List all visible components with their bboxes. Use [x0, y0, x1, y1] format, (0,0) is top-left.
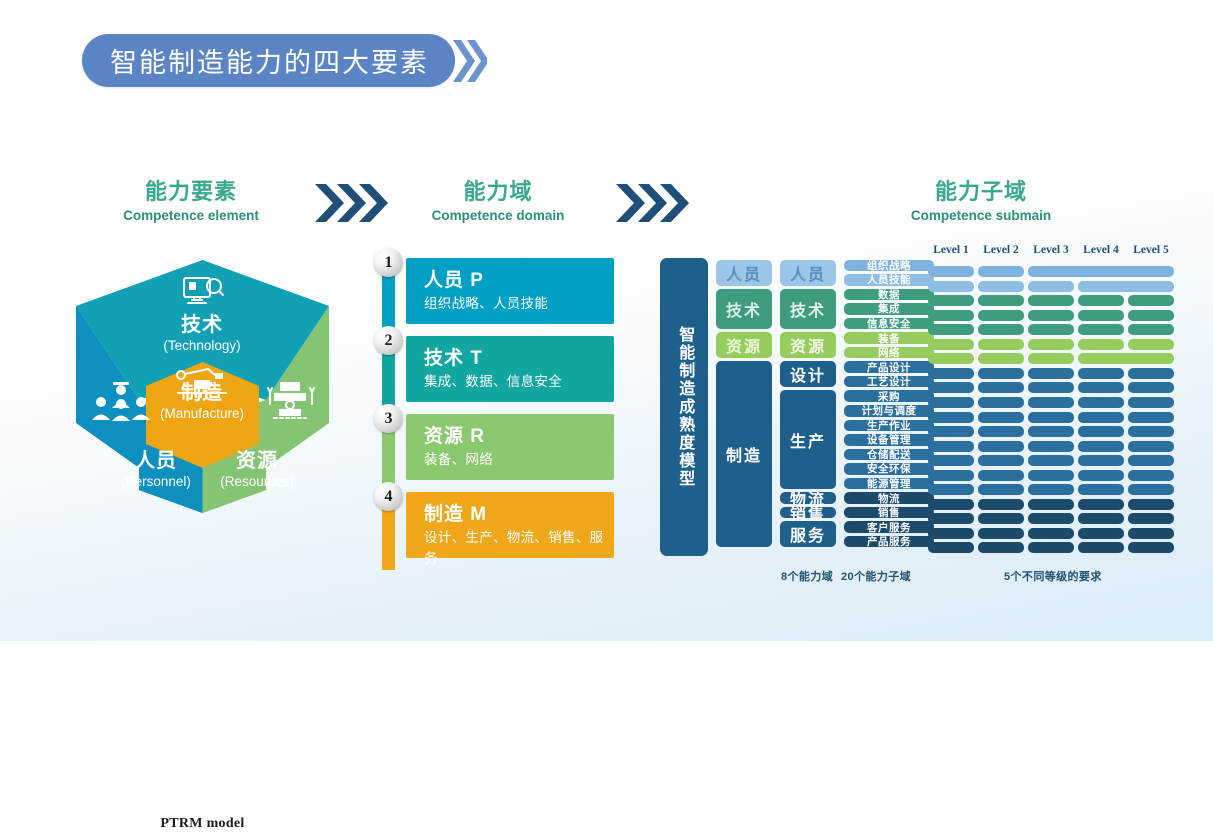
level-requirement-bar[interactable] — [978, 353, 1024, 364]
level-requirement-bar[interactable] — [1078, 441, 1124, 452]
footnote-domains-count: 8个能力域 — [781, 568, 833, 584]
competence-bar-subtitle: 组织战略、人员技能 — [424, 293, 614, 314]
level-requirement-bar[interactable] — [1128, 426, 1174, 437]
level-requirement-bar[interactable] — [978, 368, 1024, 379]
matrix-submain-cell[interactable]: 组织战略 — [844, 260, 934, 272]
competence-bar-title: 资源 R — [424, 425, 614, 449]
bar-number-badge: 1 — [374, 248, 403, 277]
bar-number-badge: 4 — [374, 482, 403, 511]
machine-icon — [266, 380, 318, 427]
level-requirement-bar[interactable] — [1128, 528, 1174, 539]
level-header: Level 1 — [928, 244, 974, 256]
level-requirement-bar[interactable] — [978, 484, 1024, 495]
matrix-element-cell[interactable]: 技术 — [716, 289, 772, 330]
level-header: Level 5 — [1128, 244, 1174, 256]
matrix-submain-cell[interactable]: 采购 — [844, 390, 934, 402]
level-requirement-bar[interactable] — [978, 412, 1024, 423]
level-requirement-bar[interactable] — [978, 499, 1024, 510]
level-requirement-bar[interactable] — [928, 484, 974, 495]
level-requirement-bar[interactable] — [1128, 397, 1174, 408]
level-requirement-bar[interactable] — [928, 542, 974, 553]
column-header-element-en: Competence element — [96, 206, 286, 225]
matrix-domain-cell[interactable]: 生产 — [780, 390, 836, 489]
matrix-element-cell[interactable]: 制造 — [716, 361, 772, 547]
level-requirement-bar[interactable] — [1028, 470, 1074, 481]
robot-arm-icon — [174, 366, 230, 407]
level-requirement-bar[interactable] — [928, 455, 974, 466]
competence-bar-subtitle: 设计、生产、物流、销售、服务 — [424, 527, 614, 569]
competence-bar-subtitle: 集成、数据、信息安全 — [424, 371, 614, 392]
page-title: 智能制造能力的四大要素 — [110, 41, 429, 80]
competence-bar-title: 技术 T — [424, 347, 614, 371]
level-requirement-bar[interactable] — [928, 528, 974, 539]
level-requirement-bar[interactable] — [978, 542, 1024, 553]
matrix-domain-cell[interactable]: 资源 — [780, 332, 836, 358]
level-requirement-bar[interactable] — [1078, 368, 1124, 379]
matrix-domain-cell[interactable]: 销售 — [780, 507, 836, 519]
level-requirement-bar[interactable] — [1128, 542, 1174, 553]
page-title-banner: 智能制造能力的四大要素 — [82, 34, 487, 87]
matrix-domain-cell[interactable]: 设计 — [780, 361, 836, 387]
level-requirement-bar[interactable] — [1128, 441, 1174, 452]
matrix-submain-cell[interactable]: 工艺设计 — [844, 376, 934, 388]
matrix-submain-cell[interactable]: 能源管理 — [844, 478, 934, 490]
monitor-search-icon — [182, 276, 224, 315]
column-header-domain-en: Competence domain — [405, 206, 591, 225]
level-requirement-bar[interactable] — [978, 382, 1024, 393]
matrix-submain-cell[interactable]: 销售 — [844, 507, 934, 519]
level-requirement-bar[interactable] — [1078, 455, 1124, 466]
level-requirement-bar[interactable] — [1028, 412, 1074, 423]
matrix-submain-cell[interactable]: 数据 — [844, 289, 934, 301]
footnote-levels-count: 5个不同等级的要求 — [1004, 568, 1102, 584]
matrix-submain-cell[interactable]: 仓储配送 — [844, 449, 934, 461]
level-requirement-bar[interactable] — [1028, 499, 1074, 510]
level-requirement-bar[interactable] — [928, 266, 974, 277]
people-icon — [92, 380, 150, 427]
column-header-submain-cn: 能力子域 — [806, 178, 1156, 206]
level-requirement-bar[interactable] — [928, 397, 974, 408]
level-requirement-bar[interactable] — [928, 441, 974, 452]
level-requirement-bar[interactable] — [1078, 513, 1124, 524]
level-requirement-bar[interactable] — [1078, 412, 1124, 423]
matrix-submain-cell[interactable]: 计划与调度 — [844, 405, 934, 417]
competence-bar[interactable]: 资源 R装备、网络 — [406, 414, 614, 480]
level-requirement-bar[interactable] — [1028, 266, 1174, 277]
column-header-submain: 能力子域 Competence submain — [806, 178, 1156, 225]
column-header-domain-cn: 能力域 — [405, 178, 591, 206]
footnote-submains-count: 20个能力子域 — [841, 568, 911, 584]
level-requirement-bar[interactable] — [978, 324, 1024, 335]
hexagon-shape: 技术 (Technology) 制造 (Manufacture) 人员 (Per… — [70, 258, 335, 518]
level-requirement-bar[interactable] — [1078, 484, 1124, 495]
level-requirement-bar[interactable] — [1078, 542, 1124, 553]
level-requirement-bar[interactable] — [928, 353, 974, 364]
level-requirement-bar[interactable] — [1078, 295, 1124, 306]
column-header-element-cn: 能力要素 — [96, 178, 286, 206]
level-requirement-bar[interactable] — [928, 324, 974, 335]
level-requirement-bar[interactable] — [928, 513, 974, 524]
level-requirement-bar[interactable] — [1028, 339, 1074, 350]
level-requirement-bar[interactable] — [928, 368, 974, 379]
level-requirement-bar[interactable] — [928, 281, 974, 292]
level-requirement-bar[interactable] — [1028, 310, 1074, 321]
level-requirement-bar[interactable] — [978, 266, 1024, 277]
competence-bar[interactable]: 人员 P组织战略、人员技能 — [406, 258, 614, 324]
level-requirement-bar[interactable] — [1078, 470, 1124, 481]
level-requirement-bar[interactable] — [1128, 499, 1174, 510]
level-requirement-bar[interactable] — [1028, 295, 1074, 306]
level-requirement-bar[interactable] — [928, 339, 974, 350]
competence-bar[interactable]: 制造 M设计、生产、物流、销售、服务 — [406, 492, 614, 558]
level-requirement-bar[interactable] — [978, 310, 1024, 321]
matrix-submain-cell[interactable]: 客户服务 — [844, 521, 934, 533]
level-requirement-bar[interactable] — [978, 426, 1024, 437]
matrix-submain-cell[interactable]: 人员技能 — [844, 274, 934, 286]
ptrm-hexagon-diagram: 技术 (Technology) 制造 (Manufacture) 人员 (Per… — [70, 258, 335, 558]
competence-domain-bars: 人员 P组织战略、人员技能1技术 T集成、数据、信息安全2资源 R装备、网络3制… — [374, 258, 614, 556]
matrix-submain-cell[interactable]: 安全环保 — [844, 463, 934, 475]
level-requirement-bar[interactable] — [1028, 441, 1074, 452]
level-requirement-bar[interactable] — [1078, 353, 1174, 364]
matrix-submain-cell[interactable]: 设备管理 — [844, 434, 934, 446]
level-requirement-bar[interactable] — [1128, 455, 1174, 466]
level-requirement-bar[interactable] — [1128, 513, 1174, 524]
level-requirement-bar[interactable] — [1128, 382, 1174, 393]
level-requirement-bar[interactable] — [978, 339, 1024, 350]
level-requirement-bar[interactable] — [1128, 484, 1174, 495]
level-requirement-bar[interactable] — [928, 382, 974, 393]
level-requirement-bar[interactable] — [978, 513, 1024, 524]
banner-chevron-icon — [451, 36, 487, 86]
column-header-domain: 能力域 Competence domain — [405, 178, 591, 225]
matrix-submain-cell[interactable]: 产品设计 — [844, 361, 934, 373]
matrix-submain-cell[interactable]: 装备 — [844, 332, 934, 344]
level-requirement-bar[interactable] — [1078, 397, 1124, 408]
level-requirement-bar[interactable] — [978, 455, 1024, 466]
matrix-submain-cell[interactable]: 集成 — [844, 303, 934, 315]
level-requirement-bar[interactable] — [1028, 542, 1074, 553]
level-header: Level 3 — [1028, 244, 1074, 256]
competence-bar-title: 人员 P — [424, 269, 614, 293]
level-requirement-bar[interactable] — [1128, 324, 1174, 335]
level-requirement-bar[interactable] — [1078, 528, 1124, 539]
matrix-domain-cell[interactable]: 技术 — [780, 289, 836, 330]
level-requirement-bar[interactable] — [1028, 368, 1074, 379]
level-requirement-bar[interactable] — [978, 397, 1024, 408]
matrix-submain-cell[interactable]: 信息安全 — [844, 318, 934, 330]
level-requirement-bar[interactable] — [1028, 513, 1074, 524]
level-requirement-bar[interactable] — [1028, 484, 1074, 495]
level-requirement-bar[interactable] — [1078, 426, 1124, 437]
bar-number-badge: 2 — [374, 326, 403, 355]
bar-number-badge: 3 — [374, 404, 403, 433]
level-requirement-bar[interactable] — [1028, 382, 1074, 393]
matrix-domain-cell[interactable]: 人员 — [780, 260, 836, 286]
level-requirement-bar[interactable] — [1028, 426, 1074, 437]
level-requirement-bar[interactable] — [1028, 397, 1074, 408]
level-requirement-bar[interactable] — [1028, 353, 1074, 364]
arrow-element-to-domain-icon — [313, 182, 389, 224]
ptrm-model-label: PTRM model — [70, 816, 335, 832]
level-requirement-bar[interactable] — [978, 441, 1024, 452]
column-header-element: 能力要素 Competence element — [96, 178, 286, 225]
matrix-submain-cell[interactable]: 产品服务 — [844, 536, 934, 548]
matrix-submain-cell[interactable]: 物流 — [844, 492, 934, 504]
competence-bar-title: 制造 M — [424, 503, 614, 527]
level-requirement-bar[interactable] — [1028, 528, 1074, 539]
level-requirement-bar[interactable] — [1128, 470, 1174, 481]
level-requirement-bar[interactable] — [928, 426, 974, 437]
level-requirement-bar[interactable] — [1128, 310, 1174, 321]
matrix-submain-cell[interactable]: 生产作业 — [844, 420, 934, 432]
level-requirement-bar[interactable] — [1028, 324, 1074, 335]
level-requirement-bar[interactable] — [1128, 339, 1174, 350]
level-requirement-bar[interactable] — [978, 281, 1024, 292]
level-requirement-bar[interactable] — [1128, 412, 1174, 423]
arrow-domain-to-submain-icon — [614, 182, 690, 224]
level-header: Level 4 — [1078, 244, 1124, 256]
level-requirement-bar[interactable] — [1128, 295, 1174, 306]
level-requirement-bar[interactable] — [978, 295, 1024, 306]
level-requirement-bar[interactable] — [1078, 499, 1124, 510]
level-requirement-bar[interactable] — [1028, 455, 1074, 466]
title-pill: 智能制造能力的四大要素 — [82, 34, 455, 87]
level-requirement-bar[interactable] — [1078, 310, 1124, 321]
level-requirement-bar[interactable] — [928, 310, 974, 321]
level-requirement-bar[interactable] — [1028, 281, 1074, 292]
level-requirement-bar[interactable] — [1078, 324, 1124, 335]
matrix-element-cell[interactable]: 资源 — [716, 332, 772, 358]
level-requirement-bar[interactable] — [1078, 382, 1124, 393]
maturity-model-title: 智能制造成熟度模型 — [660, 258, 708, 556]
competence-bar-subtitle: 装备、网络 — [424, 449, 614, 470]
level-requirement-bar[interactable] — [978, 470, 1024, 481]
level-requirement-bar[interactable] — [928, 295, 974, 306]
level-requirement-bar[interactable] — [1078, 281, 1174, 292]
level-header: Level 2 — [978, 244, 1024, 256]
level-requirement-bar[interactable] — [1078, 339, 1124, 350]
level-requirement-bar[interactable] — [928, 412, 974, 423]
matrix-element-cell[interactable]: 人员 — [716, 260, 772, 286]
level-requirement-bar[interactable] — [1128, 368, 1174, 379]
matrix-submain-cell[interactable]: 网络 — [844, 347, 934, 359]
level-requirement-bar[interactable] — [978, 528, 1024, 539]
level-requirement-bar[interactable] — [928, 470, 974, 481]
level-requirement-bar[interactable] — [928, 499, 974, 510]
competence-bar[interactable]: 技术 T集成、数据、信息安全 — [406, 336, 614, 402]
column-header-submain-en: Competence submain — [806, 206, 1156, 225]
matrix-domain-cell[interactable]: 服务 — [780, 521, 836, 547]
